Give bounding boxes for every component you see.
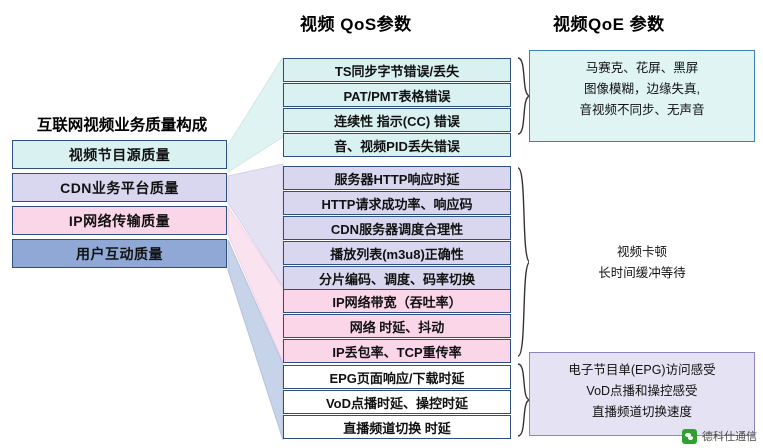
left-item-label: 用户互动质量 bbox=[76, 244, 163, 264]
qos-item-http-response-delay[interactable]: 服务器HTTP响应时延 bbox=[283, 166, 511, 190]
qos-item-cc-error[interactable]: 连续性 指示(CC) 错误 bbox=[283, 108, 511, 132]
diagram-canvas: 视频 QoS参数 视频QoE 参数 互联网视频业务质量构成 视频节目源质量 CD… bbox=[0, 0, 763, 448]
page-title: 互联网视频业务质量构成 bbox=[8, 113, 236, 135]
qoe-line: 长时间缓冲等待 bbox=[529, 263, 755, 284]
header-qoe: 视频QoE 参数 bbox=[553, 10, 665, 35]
wechat-icon bbox=[682, 429, 697, 444]
left-item-label: CDN业务平台质量 bbox=[60, 178, 179, 198]
qos-item-pat-pmt-error[interactable]: PAT/PMT表格错误 bbox=[283, 83, 511, 107]
qoe-line: 视频卡顿 bbox=[529, 242, 755, 263]
qos-item-label: PAT/PMT表格错误 bbox=[343, 86, 450, 105]
left-item-label: 视频节目源质量 bbox=[69, 145, 171, 165]
watermark: 德科仕通信 bbox=[682, 428, 757, 444]
qos-item-label: 网络 时延、抖动 bbox=[350, 317, 445, 336]
qos-item-label: IP丢包率、TCP重传率 bbox=[332, 342, 461, 361]
left-item-ip-network-quality[interactable]: IP网络传输质量 bbox=[12, 206, 227, 235]
qos-item-packet-loss-retransmission[interactable]: IP丢包率、TCP重传率 bbox=[283, 339, 511, 363]
left-item-label: IP网络传输质量 bbox=[69, 211, 170, 231]
qoe-group-buffering[interactable]: 视频卡顿 长时间缓冲等待 bbox=[529, 235, 755, 291]
qoe-line: 图像模糊，边缘失真, bbox=[530, 79, 754, 100]
qos-item-bandwidth[interactable]: IP网络带宽（吞吐率） bbox=[283, 289, 511, 313]
qos-item-segment-encoding[interactable]: 分片编码、调度、码率切换 bbox=[283, 266, 511, 290]
qoe-line: 直播频道切换速度 bbox=[530, 402, 754, 423]
qos-item-epg-response-delay[interactable]: EPG页面响应/下载时延 bbox=[283, 365, 511, 389]
qos-item-channel-switch-delay[interactable]: 直播频道切换 时延 bbox=[283, 415, 511, 439]
qos-item-label: 播放列表(m3u8)正确性 bbox=[330, 244, 464, 263]
qos-item-latency-jitter[interactable]: 网络 时延、抖动 bbox=[283, 314, 511, 338]
qoe-group-interaction[interactable]: 电子节目单(EPG)访问感受 VoD点播和操控感受 直播频道切换速度 bbox=[529, 352, 755, 436]
qos-item-label: VoD点播时延、操控时延 bbox=[326, 393, 468, 412]
qos-item-label: TS同步字节错误/丢失 bbox=[335, 61, 459, 80]
qos-item-ts-sync-error[interactable]: TS同步字节错误/丢失 bbox=[283, 58, 511, 82]
qos-item-vod-delay[interactable]: VoD点播时延、操控时延 bbox=[283, 390, 511, 414]
qos-item-label: 音、视频PID丢失错误 bbox=[334, 136, 460, 155]
qos-item-cdn-scheduling[interactable]: CDN服务器调度合理性 bbox=[283, 216, 511, 240]
left-item-source-quality[interactable]: 视频节目源质量 bbox=[12, 140, 227, 169]
qoe-group-image-quality[interactable]: 马赛克、花屏、黑屏 图像模糊，边缘失真, 音视频不同步、无声音 bbox=[529, 50, 755, 142]
qoe-line: 音视频不同步、无声音 bbox=[530, 100, 754, 121]
qos-item-label: CDN服务器调度合理性 bbox=[331, 219, 463, 238]
qos-item-label: 直播频道切换 时延 bbox=[343, 418, 451, 437]
qos-item-label: 分片编码、调度、码率切换 bbox=[319, 269, 475, 288]
qos-item-label: IP网络带宽（吞吐率） bbox=[332, 292, 461, 311]
left-item-user-interaction-quality[interactable]: 用户互动质量 bbox=[12, 239, 227, 268]
qos-item-http-success-rate[interactable]: HTTP请求成功率、响应码 bbox=[283, 191, 511, 215]
qos-item-label: 服务器HTTP响应时延 bbox=[335, 169, 460, 188]
qos-item-label: 连续性 指示(CC) 错误 bbox=[334, 111, 460, 130]
qos-item-playlist-correctness[interactable]: 播放列表(m3u8)正确性 bbox=[283, 241, 511, 265]
qoe-line: 马赛克、花屏、黑屏 bbox=[530, 58, 754, 79]
qos-item-label: HTTP请求成功率、响应码 bbox=[322, 194, 473, 213]
watermark-label: 德科仕通信 bbox=[702, 428, 757, 444]
header-qos: 视频 QoS参数 bbox=[300, 10, 412, 35]
qoe-line: VoD点播和操控感受 bbox=[530, 381, 754, 402]
left-item-cdn-quality[interactable]: CDN业务平台质量 bbox=[12, 173, 227, 202]
qos-item-label: EPG页面响应/下载时延 bbox=[329, 368, 464, 387]
qos-item-pid-loss-error[interactable]: 音、视频PID丢失错误 bbox=[283, 133, 511, 157]
qoe-line: 电子节目单(EPG)访问感受 bbox=[530, 360, 754, 381]
